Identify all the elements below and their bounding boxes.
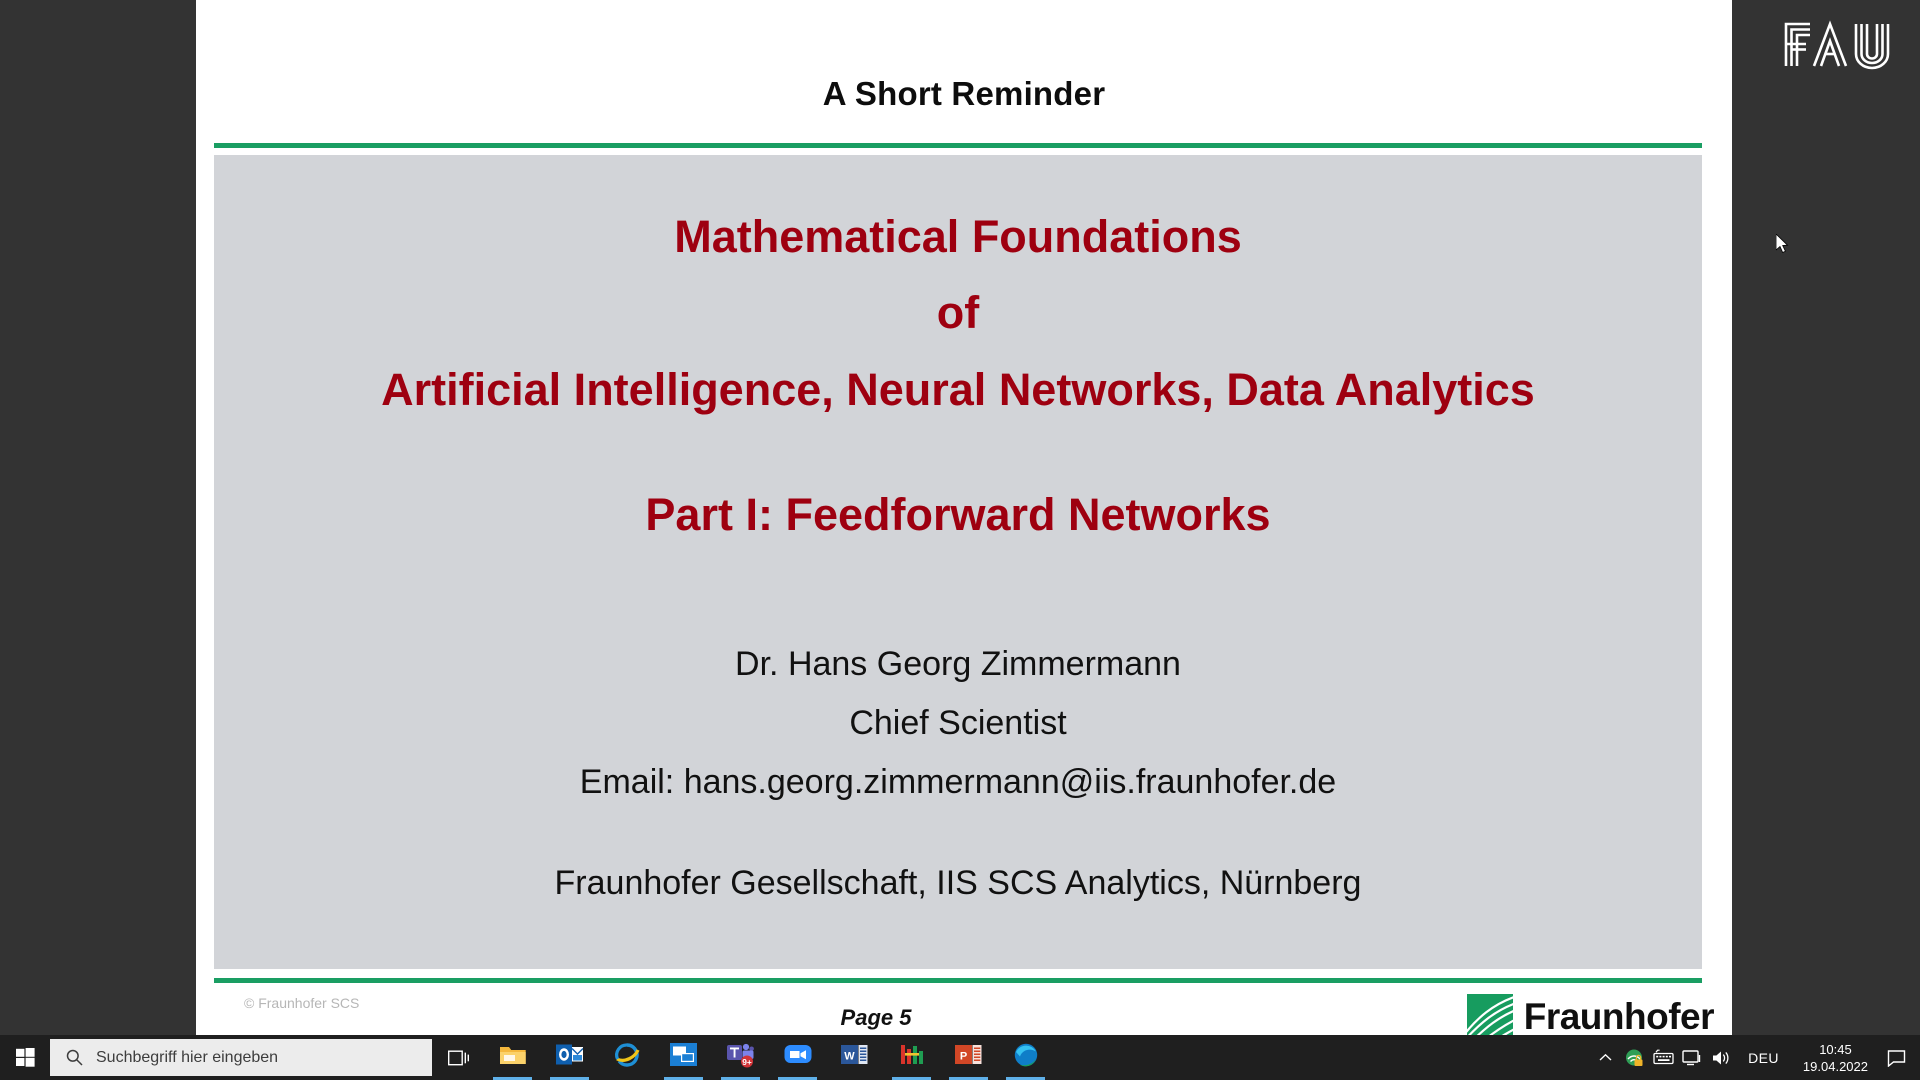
desktop-screen: A Short Reminder Mathematical Foundation… [0,0,1920,1080]
tray-network-button[interactable] [1620,1035,1649,1080]
taskbar-item-microsoft-edge[interactable] [997,1035,1054,1080]
fraunhofer-mark-icon [1467,994,1513,1040]
tray-language-indicator[interactable]: DEU [1736,1050,1791,1066]
taskbar-app-list: 9+ W [484,1035,1054,1080]
presentation-slide: A Short Reminder Mathematical Foundation… [196,0,1732,1035]
outlook-icon [556,1042,583,1067]
windows-logo-icon [16,1048,35,1067]
taskbar-item-zoom[interactable] [769,1035,826,1080]
top-accent-rule [214,143,1702,148]
tray-clock[interactable]: 10:45 19.04.2022 [1791,1041,1880,1075]
network-secure-icon [1624,1048,1646,1068]
keyboard-icon [1653,1049,1675,1066]
author-affiliation: Fraunhofer Gesellschaft, IIS SCS Analyti… [214,854,1702,913]
heading-part-label: Part I: Feedforward Networks [214,477,1702,553]
taskbar-item-microsoft-word[interactable]: W [826,1035,883,1080]
heading-line-1: Mathematical Foundations [214,199,1702,275]
page-number: Page 5 [196,1005,1556,1031]
tray-volume-button[interactable] [1707,1035,1736,1080]
svg-text:W: W [844,1051,855,1063]
internet-explorer-icon [613,1042,641,1068]
author-role: Chief Scientist [214,694,1702,753]
slide-title: A Short Reminder [196,75,1732,113]
taskbar-item-file-explorer[interactable] [484,1035,541,1080]
taskbar-item-internet-explorer[interactable] [598,1035,655,1080]
fraunhofer-logo: Fraunhofer [1467,994,1714,1040]
tray-date: 19.04.2022 [1803,1058,1868,1075]
fau-logo [1780,14,1898,72]
taskbar-item-powerpoint[interactable]: P [940,1035,997,1080]
edge-icon [1012,1042,1040,1068]
task-view-icon [448,1049,469,1067]
teams-icon: 9+ [726,1042,756,1068]
speaker-icon [1711,1049,1732,1067]
bottom-accent-rule [214,978,1702,983]
windows-taskbar: Suchbegriff hier eingeben [0,1035,1920,1080]
tray-time: 10:45 [1819,1041,1852,1058]
search-icon [66,1049,83,1066]
tray-overflow-button[interactable] [1591,1035,1620,1080]
search-placeholder-text: Suchbegriff hier eingeben [96,1049,278,1067]
notification-center-button[interactable] [1880,1035,1914,1080]
heading-line-3: Artificial Intelligence, Neural Networks… [214,351,1702,429]
display-icon [1682,1049,1703,1067]
powerpoint-icon: P [955,1042,982,1067]
notification-icon [1887,1049,1907,1067]
taskbar-item-remote-desktop[interactable] [655,1035,712,1080]
video-camera-icon [784,1042,812,1066]
task-view-button[interactable] [432,1035,484,1080]
taskbar-item-microsoft-teams[interactable]: 9+ [712,1035,769,1080]
tray-display-button[interactable] [1678,1035,1707,1080]
taskbar-item-outlook[interactable] [541,1035,598,1080]
word-icon: W [841,1042,868,1067]
chevron-up-icon [1599,1053,1612,1062]
bar-chart-icon [899,1042,925,1067]
svg-text:P: P [960,1051,967,1063]
author-email: Email: hans.georg.zimmermann@iis.fraunho… [214,753,1702,812]
slide-heading-block: Mathematical Foundations of Artificial I… [214,199,1702,553]
folder-icon [499,1042,527,1068]
remote-desktop-icon [670,1042,697,1067]
tray-keyboard-button[interactable] [1649,1035,1678,1080]
system-tray: DEU 10:45 19.04.2022 [1591,1035,1920,1080]
heading-line-2: of [214,275,1702,351]
search-input[interactable]: Suchbegriff hier eingeben [50,1039,432,1076]
taskbar-item-chart-app[interactable] [883,1035,940,1080]
author-name: Dr. Hans Georg Zimmermann [214,635,1702,694]
fraunhofer-wordmark: Fraunhofer [1524,996,1714,1038]
start-button[interactable] [0,1035,50,1080]
svg-text:9+: 9+ [742,1057,752,1067]
author-block: Dr. Hans Georg Zimmermann Chief Scientis… [214,635,1702,913]
slide-content-box: Mathematical Foundations of Artificial I… [214,155,1702,969]
mouse-cursor [1776,234,1790,254]
